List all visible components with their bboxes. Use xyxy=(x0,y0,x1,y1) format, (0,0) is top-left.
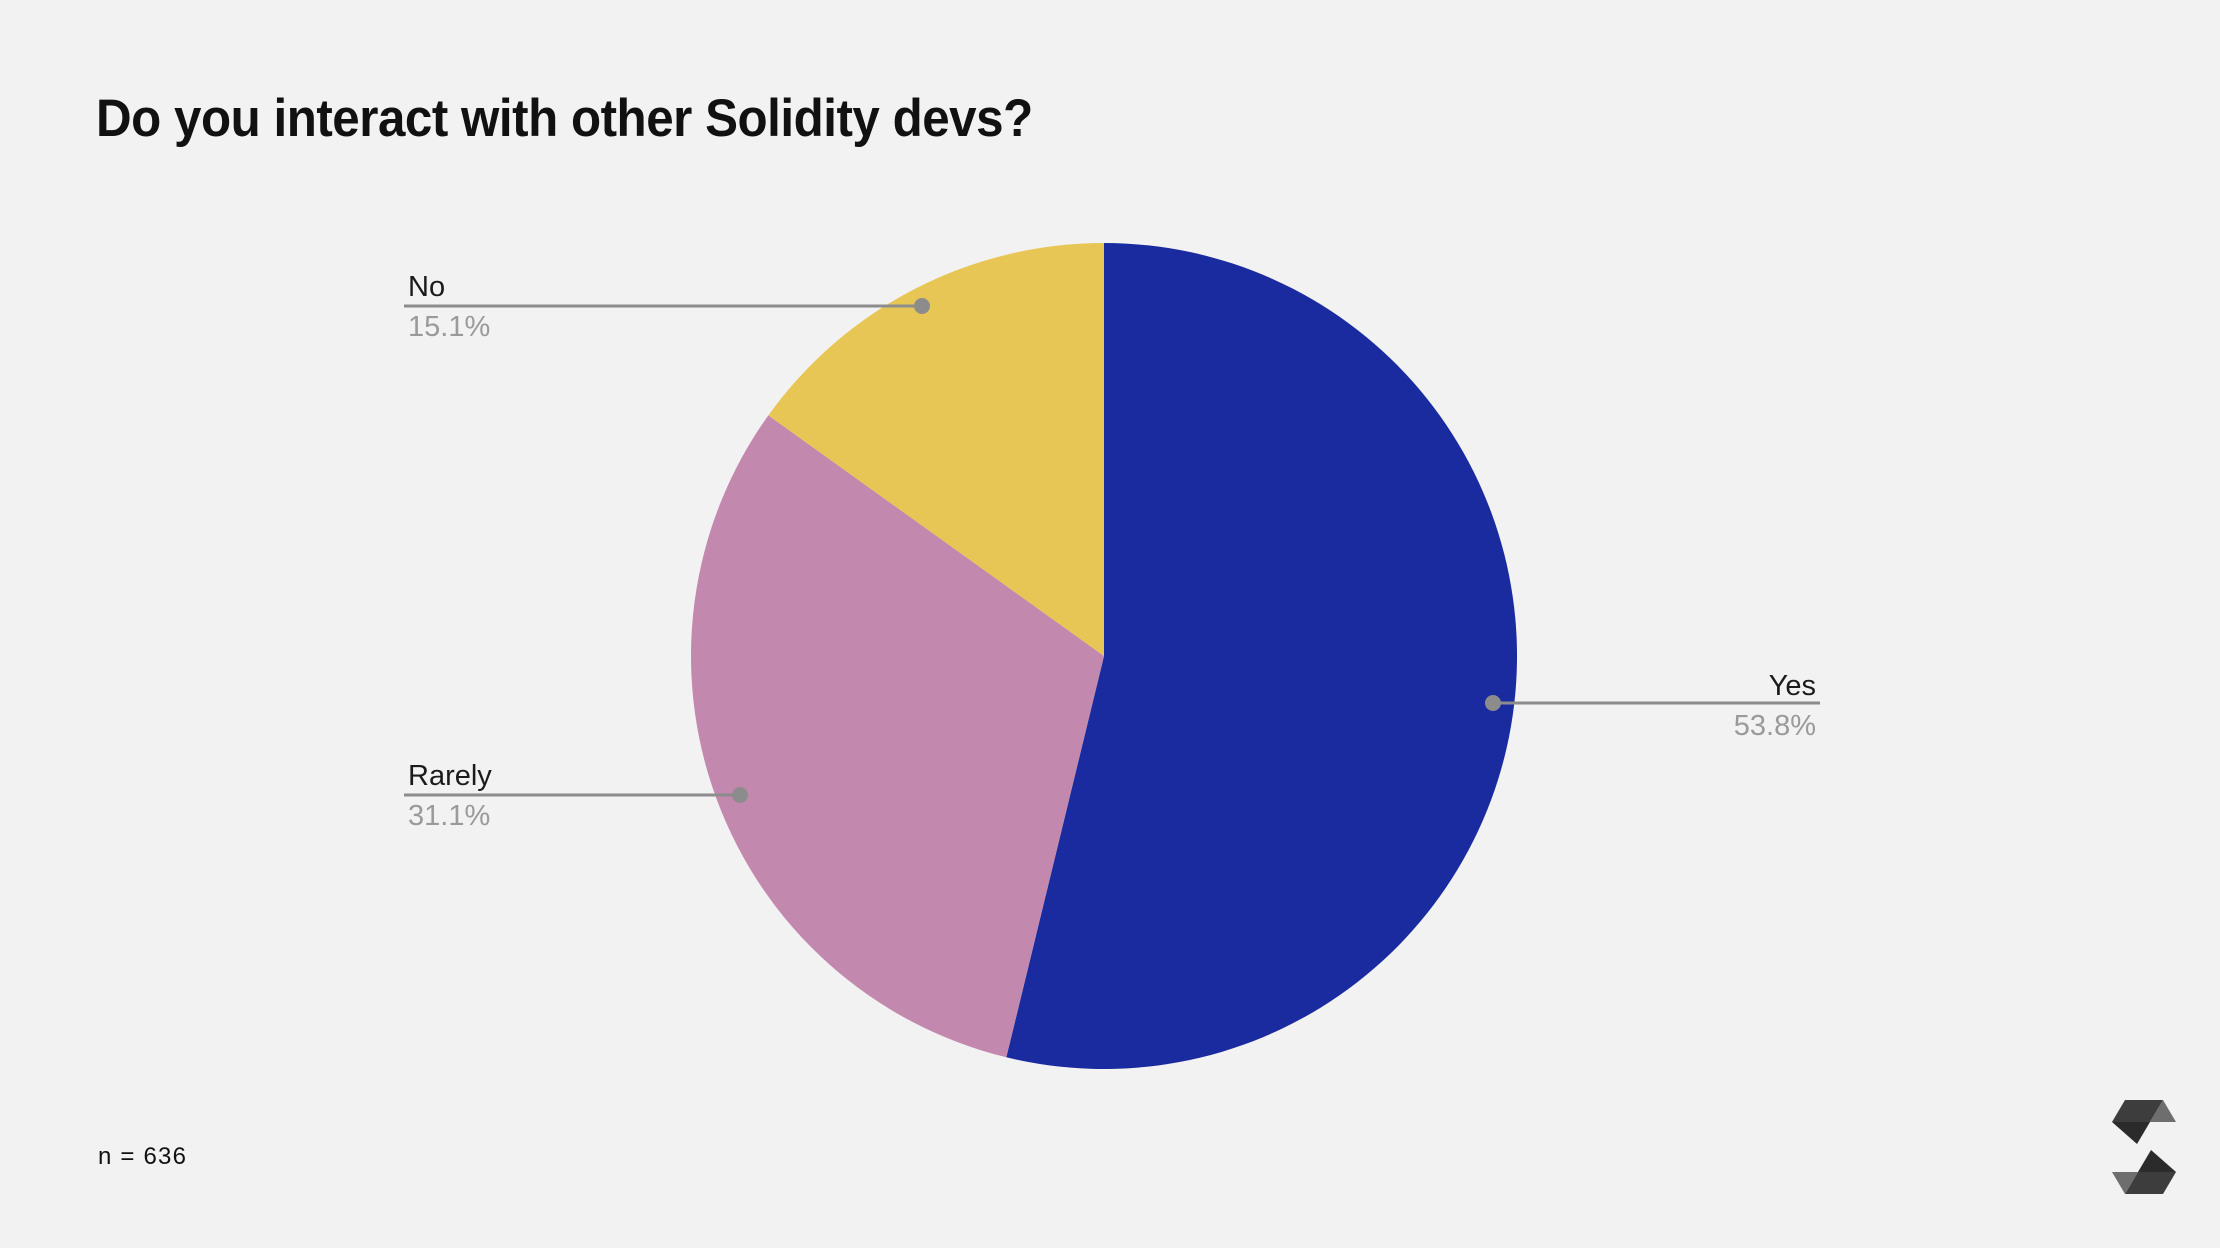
solidity-logo-icon xyxy=(2098,1098,2190,1198)
sample-size-note: n = 636 xyxy=(98,1143,187,1171)
pie-slice-group xyxy=(691,243,1517,1069)
pie-label-no-percent: 15.1% xyxy=(408,313,490,342)
pie-label-no: No 15.1% xyxy=(408,273,490,342)
pie-label-yes-category: Yes xyxy=(1734,672,1816,701)
solidity-logo-bottom xyxy=(2112,1150,2176,1194)
pie-label-no-category: No xyxy=(408,273,490,302)
solidity-logo-top xyxy=(2112,1100,2176,1144)
leader-dot-no xyxy=(914,298,930,314)
pie-chart: Yes 53.8% Rarely 31.1% No 15.1% xyxy=(0,0,2220,1248)
leader-dot-yes xyxy=(1485,695,1501,711)
solidity-logo xyxy=(2098,1098,2190,1198)
pie-label-yes-percent: 53.8% xyxy=(1734,712,1816,741)
leader-dot-rarely xyxy=(732,787,748,803)
chart-page: Do you interact with other Solidity devs… xyxy=(0,0,2220,1248)
pie-chart-canvas xyxy=(0,0,2220,1248)
pie-label-rarely: Rarely 31.1% xyxy=(408,762,492,831)
pie-label-rarely-category: Rarely xyxy=(408,762,492,791)
pie-label-yes: Yes 53.8% xyxy=(1734,672,1816,741)
pie-label-rarely-percent: 31.1% xyxy=(408,802,492,831)
